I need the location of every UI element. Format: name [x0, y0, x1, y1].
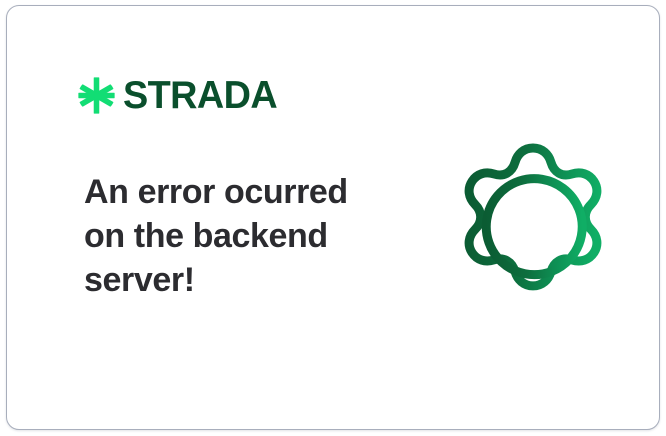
error-screen: STRADA An error ocurred on the backend s…: [0, 0, 666, 436]
brand-wordmark: STRADA: [123, 76, 277, 115]
brand-lockup: STRADA: [78, 74, 282, 116]
error-message-line-1: An error ocurred: [84, 170, 384, 214]
strada-asterisk-icon: [78, 77, 115, 114]
error-message: An error ocurred on the backend server!: [84, 170, 384, 302]
error-message-line-3: server!: [84, 258, 384, 302]
gear-cog-icon: [447, 142, 619, 314]
error-card: STRADA An error ocurred on the backend s…: [6, 5, 660, 430]
error-message-line-2: on the backend: [84, 214, 384, 258]
